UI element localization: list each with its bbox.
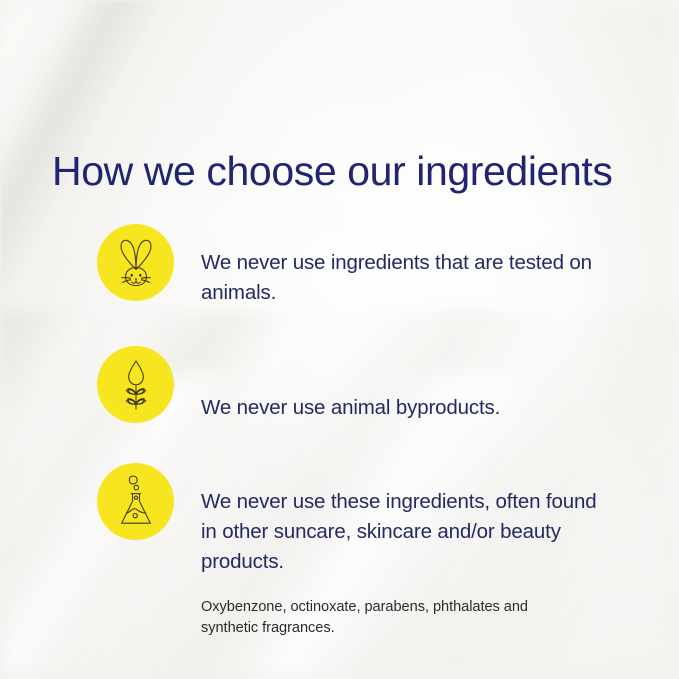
feature-text: We never use animal byproducts. (201, 393, 603, 423)
page-title: How we choose our ingredients (52, 149, 612, 194)
feature-body-banned-ingredients: We never use these ingredients, often fo… (201, 463, 637, 654)
feature-text: We never use these ingredients, often fo… (201, 487, 611, 577)
icon-badge-cruelty-free (97, 224, 174, 301)
content-area: How we choose our ingredients (0, 0, 679, 679)
bunny-heart-ears-icon (113, 237, 159, 289)
icon-badge-no-animal-byproducts (97, 346, 174, 423)
feature-body-no-animal-byproducts: We never use animal byproducts. (201, 346, 637, 443)
feature-note-banned-ingredient-list: Oxybenzone, octinoxate, parabens, phthal… (201, 597, 561, 639)
feature-list: We never use ingredients that are tested… (97, 224, 637, 654)
icon-badge-banned-ingredients (97, 463, 174, 540)
feature-item-cruelty-free: We never use ingredients that are tested… (97, 224, 637, 328)
feature-text: We never use ingredients that are tested… (201, 248, 603, 308)
plant-sprig-icon (118, 359, 154, 411)
ingredients-info-panel: How we choose our ingredients (0, 0, 679, 679)
feature-item-banned-ingredients: We never use these ingredients, often fo… (97, 463, 637, 654)
feature-body-cruelty-free: We never use ingredients that are tested… (201, 224, 637, 328)
feature-item-no-animal-byproducts: We never use animal byproducts. (97, 346, 637, 443)
flask-bubbles-icon (117, 475, 155, 529)
